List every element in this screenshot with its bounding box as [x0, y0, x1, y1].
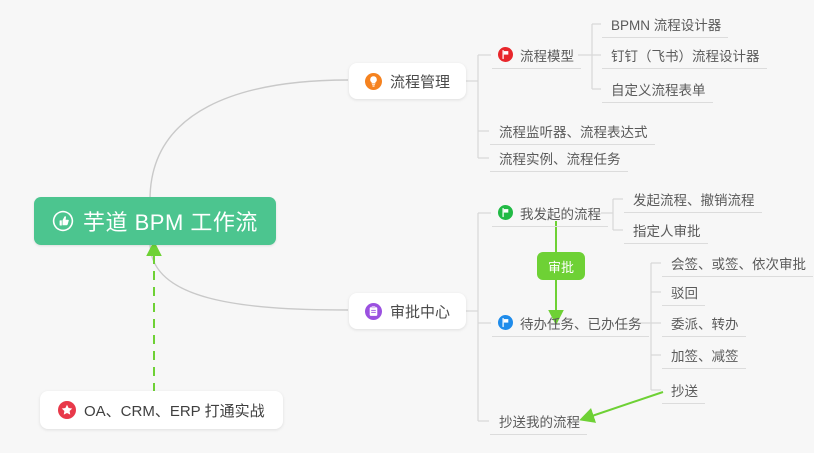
node-start-cancel-process[interactable]: 发起流程、撤销流程: [624, 185, 762, 213]
root-node[interactable]: 芋道 BPM 工作流: [34, 197, 276, 245]
label-reject: 驳回: [671, 282, 698, 302]
node-bpmn-designer[interactable]: BPMN 流程设计器: [602, 10, 728, 38]
node-dingtalk-feishu-designer[interactable]: 钉钉（飞书）流程设计器: [602, 41, 767, 69]
connector-root-to-process-management: [150, 80, 348, 200]
node-my-initiated-process[interactable]: 我发起的流程: [492, 199, 608, 227]
annotation-chip-approval: 审批: [537, 252, 585, 280]
branch-label-approval-center: 审批中心: [390, 301, 450, 322]
branch-label-process-management: 流程管理: [390, 71, 450, 92]
label-bpmn-designer: BPMN 流程设计器: [611, 14, 721, 34]
clipboard-icon: [365, 303, 382, 320]
label-dingtalk-feishu-designer: 钉钉（飞书）流程设计器: [611, 45, 760, 65]
flag-icon: [498, 315, 513, 330]
connector-root-to-approval-center: [150, 243, 348, 310]
node-process-listener-expression[interactable]: 流程监听器、流程表达式: [490, 117, 655, 145]
annotation-chip-approval-label: 审批: [548, 257, 574, 276]
label-cc: 抄送: [671, 380, 698, 400]
note-label-integration: OA、CRM、ERP 打通实战: [84, 400, 265, 421]
label-process-model: 流程模型: [520, 45, 574, 65]
label-add-remove-sign: 加签、减签: [671, 345, 739, 365]
node-process-instance-task[interactable]: 流程实例、流程任务: [490, 144, 628, 172]
node-cc[interactable]: 抄送: [662, 376, 705, 404]
label-process-instance-task: 流程实例、流程任务: [499, 148, 621, 168]
label-custom-process-form: 自定义流程表单: [611, 79, 706, 99]
label-delegate-transfer: 委派、转办: [671, 313, 739, 333]
label-start-cancel-process: 发起流程、撤销流程: [633, 189, 755, 209]
label-cc-to-me-process: 抄送我的流程: [499, 411, 580, 431]
branch-node-approval-center[interactable]: 审批中心: [349, 293, 466, 329]
node-cc-to-me-process[interactable]: 抄送我的流程: [490, 407, 587, 435]
label-my-initiated-process: 我发起的流程: [520, 203, 601, 223]
star-icon: [58, 401, 76, 419]
node-custom-process-form[interactable]: 自定义流程表单: [602, 75, 713, 103]
node-add-remove-sign[interactable]: 加签、减签: [662, 341, 746, 369]
label-designated-approver: 指定人审批: [633, 220, 701, 240]
flag-icon: [498, 47, 513, 62]
label-todo-done-tasks: 待办任务、已办任务: [520, 313, 642, 333]
note-node-integration[interactable]: OA、CRM、ERP 打通实战: [40, 391, 283, 429]
node-countersign-orsign-sequential[interactable]: 会签、或签、依次审批: [662, 249, 813, 277]
label-countersign-orsign-sequential: 会签、或签、依次审批: [671, 253, 806, 273]
node-reject[interactable]: 驳回: [662, 278, 705, 306]
mindmap-canvas: 芋道 BPM 工作流 流程管理 流程模型 流程监听器、流程表达式 流程实例、流: [0, 0, 814, 453]
thumbs-up-icon: [52, 210, 74, 232]
node-process-model[interactable]: 流程模型: [492, 41, 581, 69]
arrow-cc-to-ccme: [586, 392, 663, 418]
root-label: 芋道 BPM 工作流: [83, 205, 258, 237]
branch-node-process-management[interactable]: 流程管理: [349, 63, 466, 99]
node-todo-done-tasks[interactable]: 待办任务、已办任务: [492, 309, 649, 337]
flag-icon: [498, 205, 513, 220]
lightbulb-icon: [365, 73, 382, 90]
node-designated-approver[interactable]: 指定人审批: [624, 216, 708, 244]
node-delegate-transfer[interactable]: 委派、转办: [662, 309, 746, 337]
label-process-listener-expression: 流程监听器、流程表达式: [499, 121, 648, 141]
